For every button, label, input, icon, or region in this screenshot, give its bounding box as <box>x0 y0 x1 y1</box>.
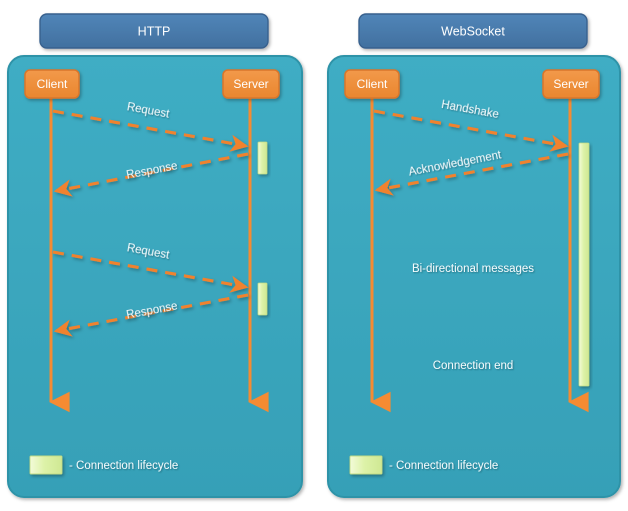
websocket-legend-swatch <box>350 456 382 474</box>
panel-http: HTTP Request Response Request Response C… <box>8 14 302 497</box>
websocket-legend-label: - Connection lifecycle <box>389 460 498 472</box>
websocket-server-label: Server <box>553 77 588 91</box>
http-legend-swatch <box>30 456 62 474</box>
http-header-label: HTTP <box>138 24 171 38</box>
http-lifecycle-bar-2 <box>258 283 267 315</box>
websocket-header-label: WebSocket <box>441 24 505 38</box>
websocket-bidirectional-caption: Bi-directional messages <box>412 263 534 275</box>
websocket-vs-http-sequence-diagram: HTTP Request Response Request Response C… <box>0 0 628 511</box>
http-client-label: Client <box>37 77 68 91</box>
websocket-client-label: Client <box>357 77 388 91</box>
diagram-canvas: HTTP Request Response Request Response C… <box>0 0 628 511</box>
http-lifecycle-bar-1 <box>258 142 267 174</box>
websocket-connection-end-label: Connection end <box>433 360 514 372</box>
http-server-label: Server <box>233 77 268 91</box>
panel-websocket: WebSocket Handshake Acknowledgement Bi-d… <box>328 14 620 497</box>
http-legend-label: - Connection lifecycle <box>69 460 178 472</box>
websocket-lifecycle-bar <box>579 143 589 386</box>
